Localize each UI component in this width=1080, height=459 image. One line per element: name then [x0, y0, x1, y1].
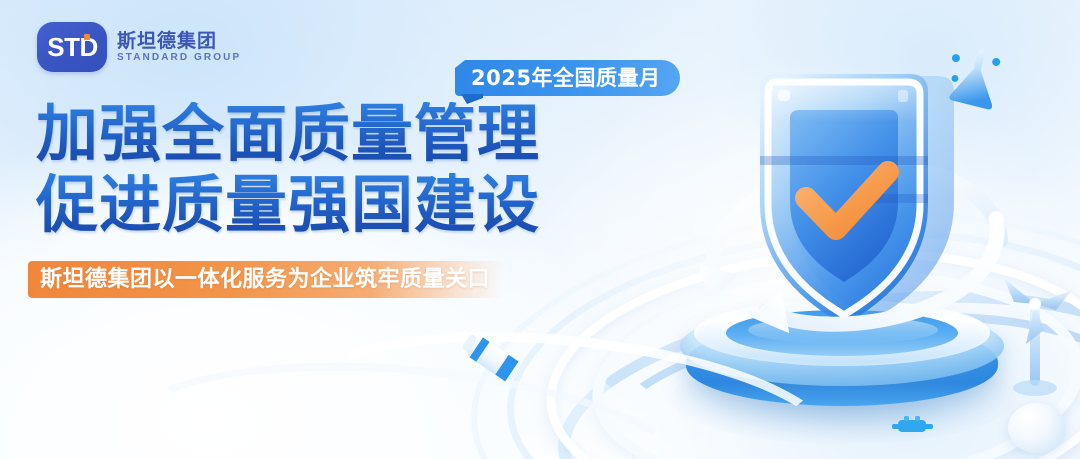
campaign-badge-label: 2025年全国质量月 [471, 68, 660, 89]
wind-turbine-icon [998, 272, 1076, 396]
orbit-arrows-front [670, 181, 1022, 360]
quality-month-banner: STD 斯坦德集团 STANDARD GROUP 2025年全国质量月 加强全面… [0, 0, 1080, 459]
logo-accent-dot [84, 34, 90, 40]
brand-logo-text: 斯坦德集团 STANDARD GROUP [117, 32, 241, 63]
subtitle-text: 斯坦德集团以一体化服务为企业筑牢质量关口 [40, 269, 490, 291]
brand-name-cn: 斯坦德集团 [117, 32, 241, 51]
brand-logo[interactable]: STD 斯坦德集团 STANDARD GROUP [37, 22, 241, 72]
std-logo-mark-text: STD [46, 34, 98, 60]
headline-line-1: 加强全面质量管理 [36, 102, 540, 167]
headline: 加强全面质量管理 促进质量强国建设 [36, 102, 540, 238]
campaign-badge: 2025年全国质量月 [455, 60, 680, 100]
foreground-sweep-two [113, 341, 702, 459]
glass-sphere-icon [1008, 403, 1066, 453]
test-tube-vial-icon [455, 330, 529, 386]
brand-name-en: STANDARD GROUP [117, 53, 241, 63]
std-logo-mark: STD [37, 22, 107, 72]
subtitle-bar: 斯坦德集团以一体化服务为企业筑牢质量关口 [28, 261, 504, 298]
headline-line-2: 促进质量强国建设 [36, 173, 540, 238]
micro-chip-icon [890, 415, 936, 437]
campaign-badge-body: 2025年全国质量月 [455, 60, 680, 96]
